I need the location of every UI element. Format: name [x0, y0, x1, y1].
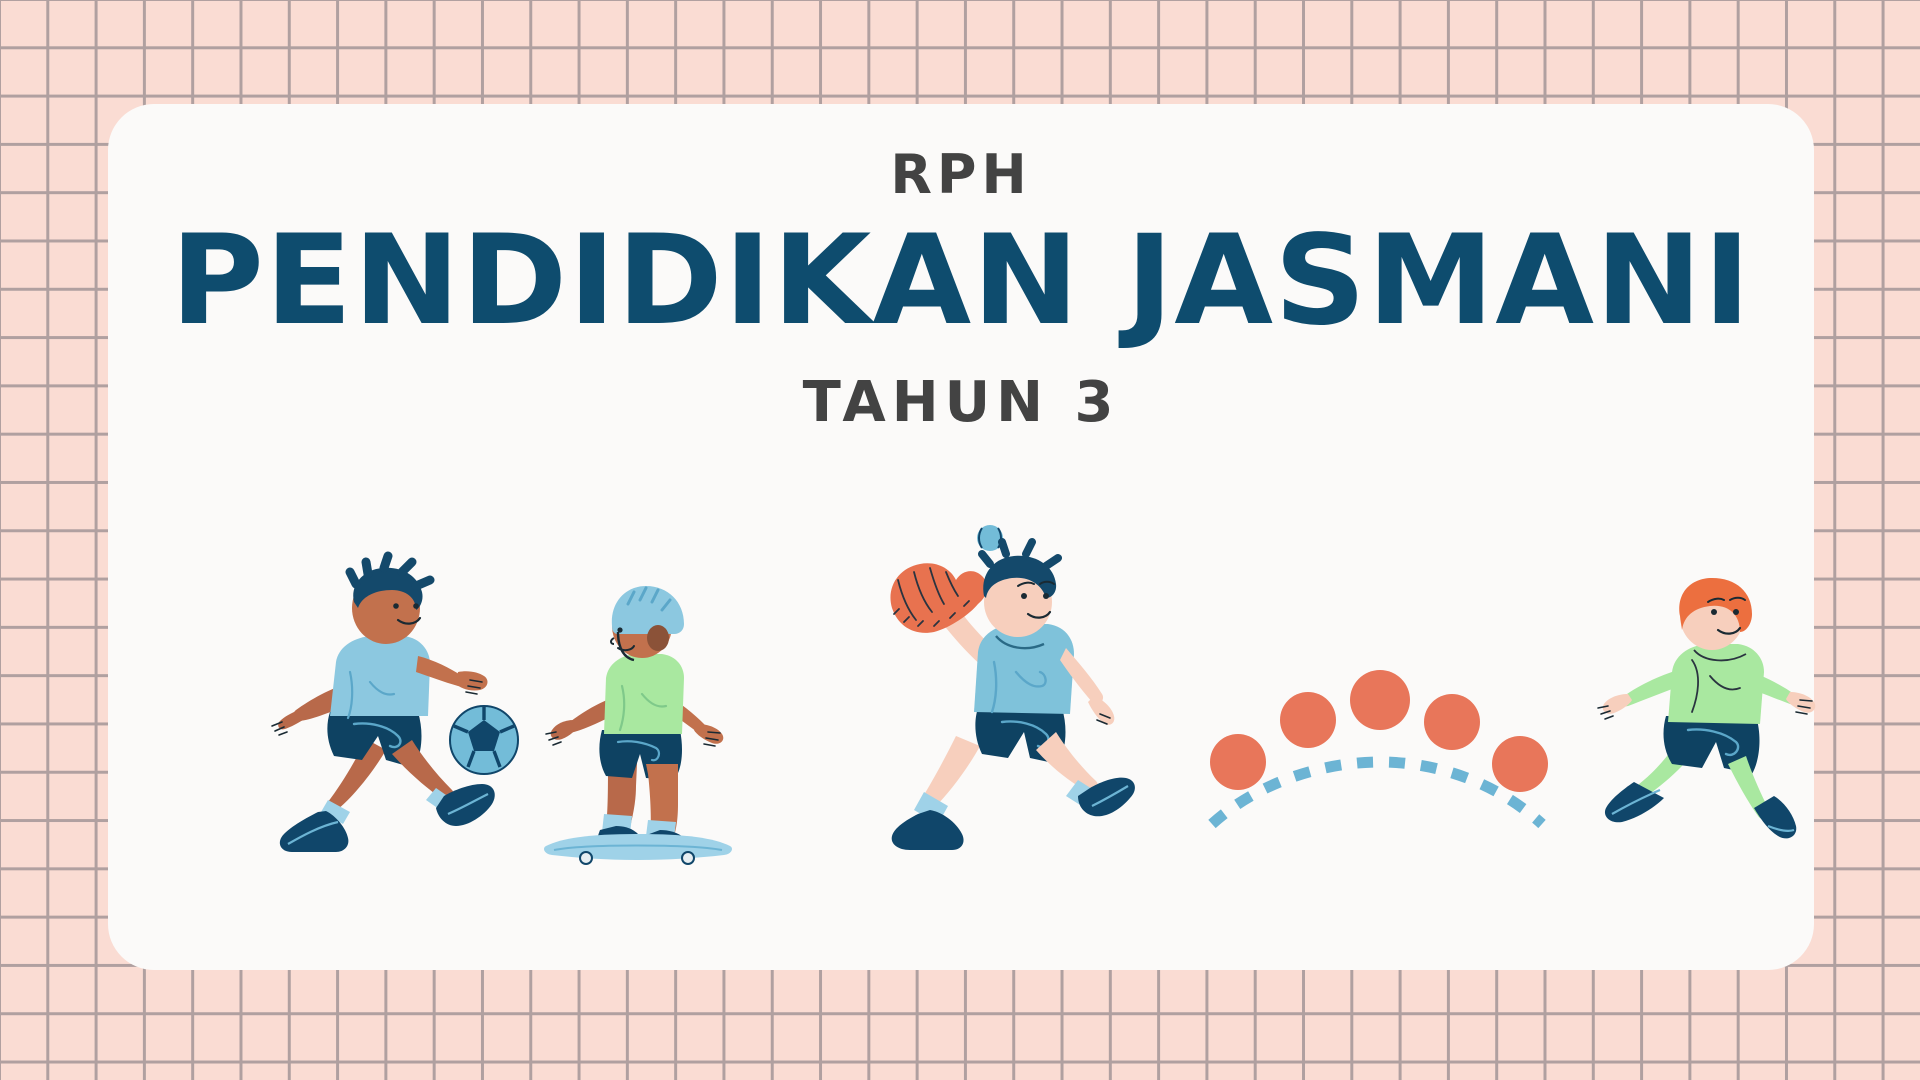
soccer-player-illustration: [258, 564, 518, 854]
subtitle-text: TAHUN 3: [108, 375, 1814, 431]
cone-circle: [1280, 692, 1336, 748]
slide-card: RPH PENDIDIKAN JASMANI TAHUN 3: [108, 104, 1814, 970]
illustration-band: [108, 524, 1814, 944]
cone-circle: [1210, 734, 1266, 790]
cone-circle: [1350, 670, 1410, 730]
soccer-ball-icon: [450, 706, 518, 774]
cone-circle: [1424, 694, 1480, 750]
baseball-ball-icon: [977, 525, 1003, 551]
title-block: RPH PENDIDIKAN JASMANI TAHUN 3: [108, 148, 1814, 431]
baseball-catcher-illustration: [878, 524, 1138, 854]
skateboard-icon: [544, 834, 732, 864]
page-title: PENDIDIKAN JASMANI: [82, 212, 1839, 351]
baseball-mitt-icon: [890, 563, 986, 633]
skateboarder-illustration: [538, 574, 738, 859]
eyebrow-text: RPH: [108, 148, 1814, 202]
runner-illustration: [1588, 574, 1828, 859]
cone-circle: [1492, 736, 1548, 792]
cone-row: [1208, 634, 1548, 834]
